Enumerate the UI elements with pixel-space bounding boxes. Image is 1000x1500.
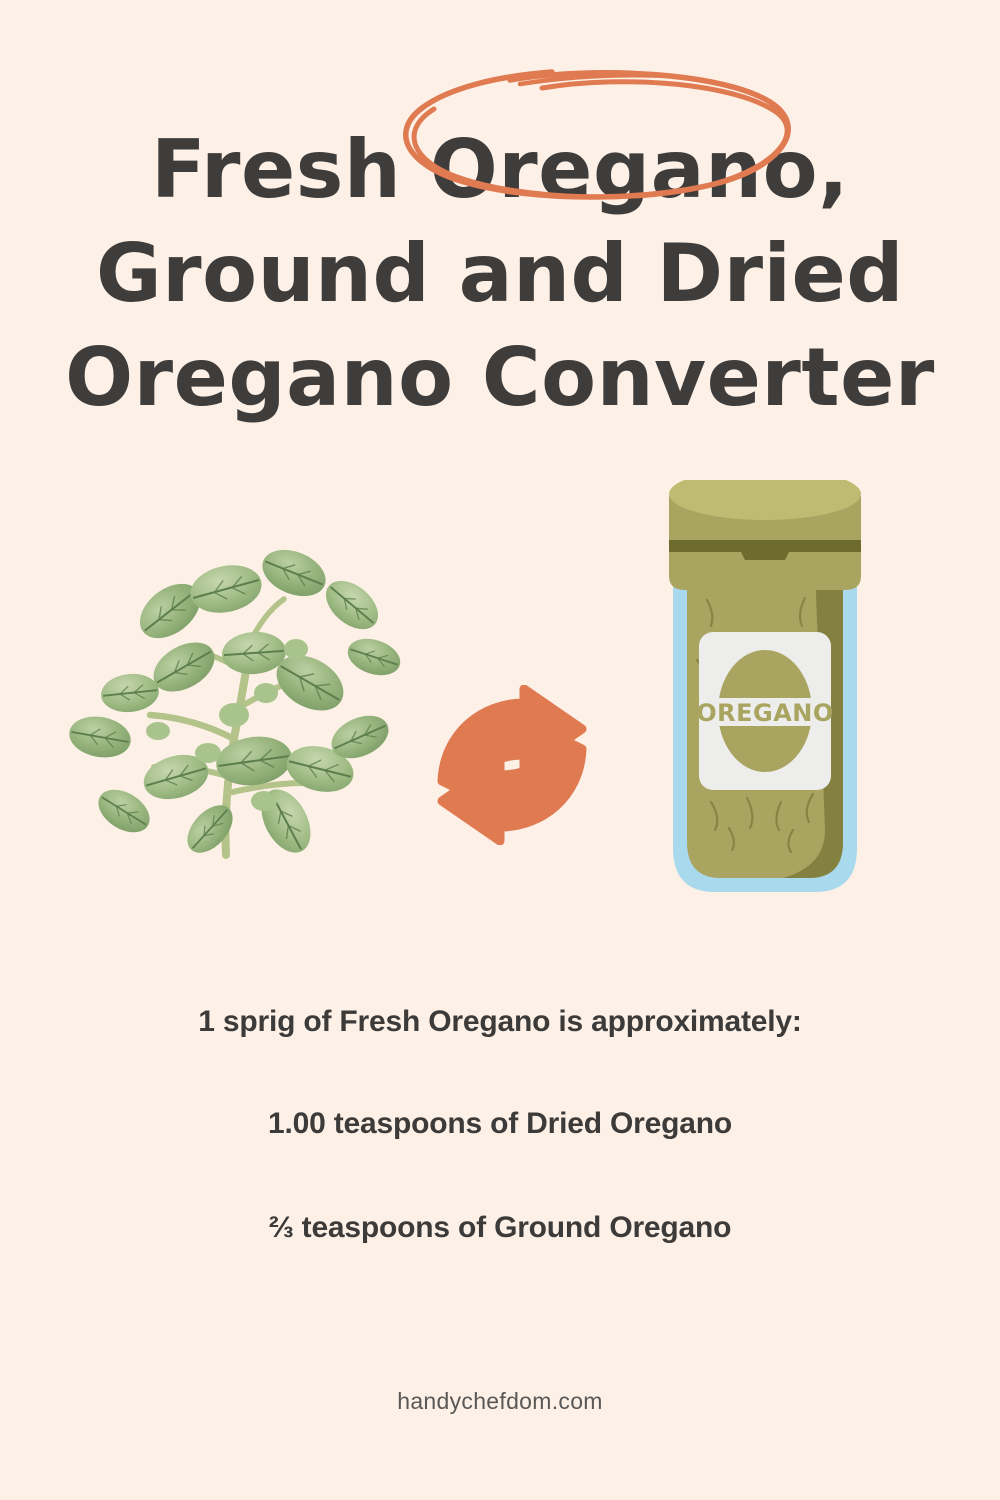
title-line-2: Ground and Dried: [0, 222, 1000, 326]
jar-lid-band: [669, 540, 861, 552]
jar-lid-tab: [741, 552, 789, 560]
illustration-row: OREGANO: [0, 470, 1000, 920]
infographic-page: Fresh Oregano, Ground and Dried Oregano …: [0, 0, 1000, 1500]
title-text-before: Fresh: [151, 123, 430, 216]
conversion-intro-line: 1 sprig of Fresh Oregano is approximatel…: [0, 1005, 1000, 1039]
conversion-result-ground: ⅔ teaspoons of Ground Oregano: [0, 1211, 1000, 1245]
jar-label-text: OREGANO: [696, 699, 834, 727]
page-title: Fresh Oregano, Ground and Dried Oregano …: [0, 118, 1000, 430]
title-highlight-text: Oregano,: [430, 123, 849, 216]
two-way-swap-arrows-icon[interactable]: [432, 685, 592, 845]
conversion-result-dried: 1.00 teaspoons of Dried Oregano: [0, 1107, 1000, 1141]
dried-oregano-jar-icon: OREGANO: [655, 480, 875, 910]
conversion-results: 1 sprig of Fresh Oregano is approximatel…: [0, 1005, 1000, 1245]
fresh-oregano-sprig-icon: [58, 525, 408, 865]
site-footer: handychefdom.com: [0, 1388, 1000, 1415]
title-highlight-group: Oregano,: [430, 118, 849, 222]
title-line-1: Fresh Oregano,: [0, 118, 1000, 222]
title-line-3: Oregano Converter: [0, 326, 1000, 430]
